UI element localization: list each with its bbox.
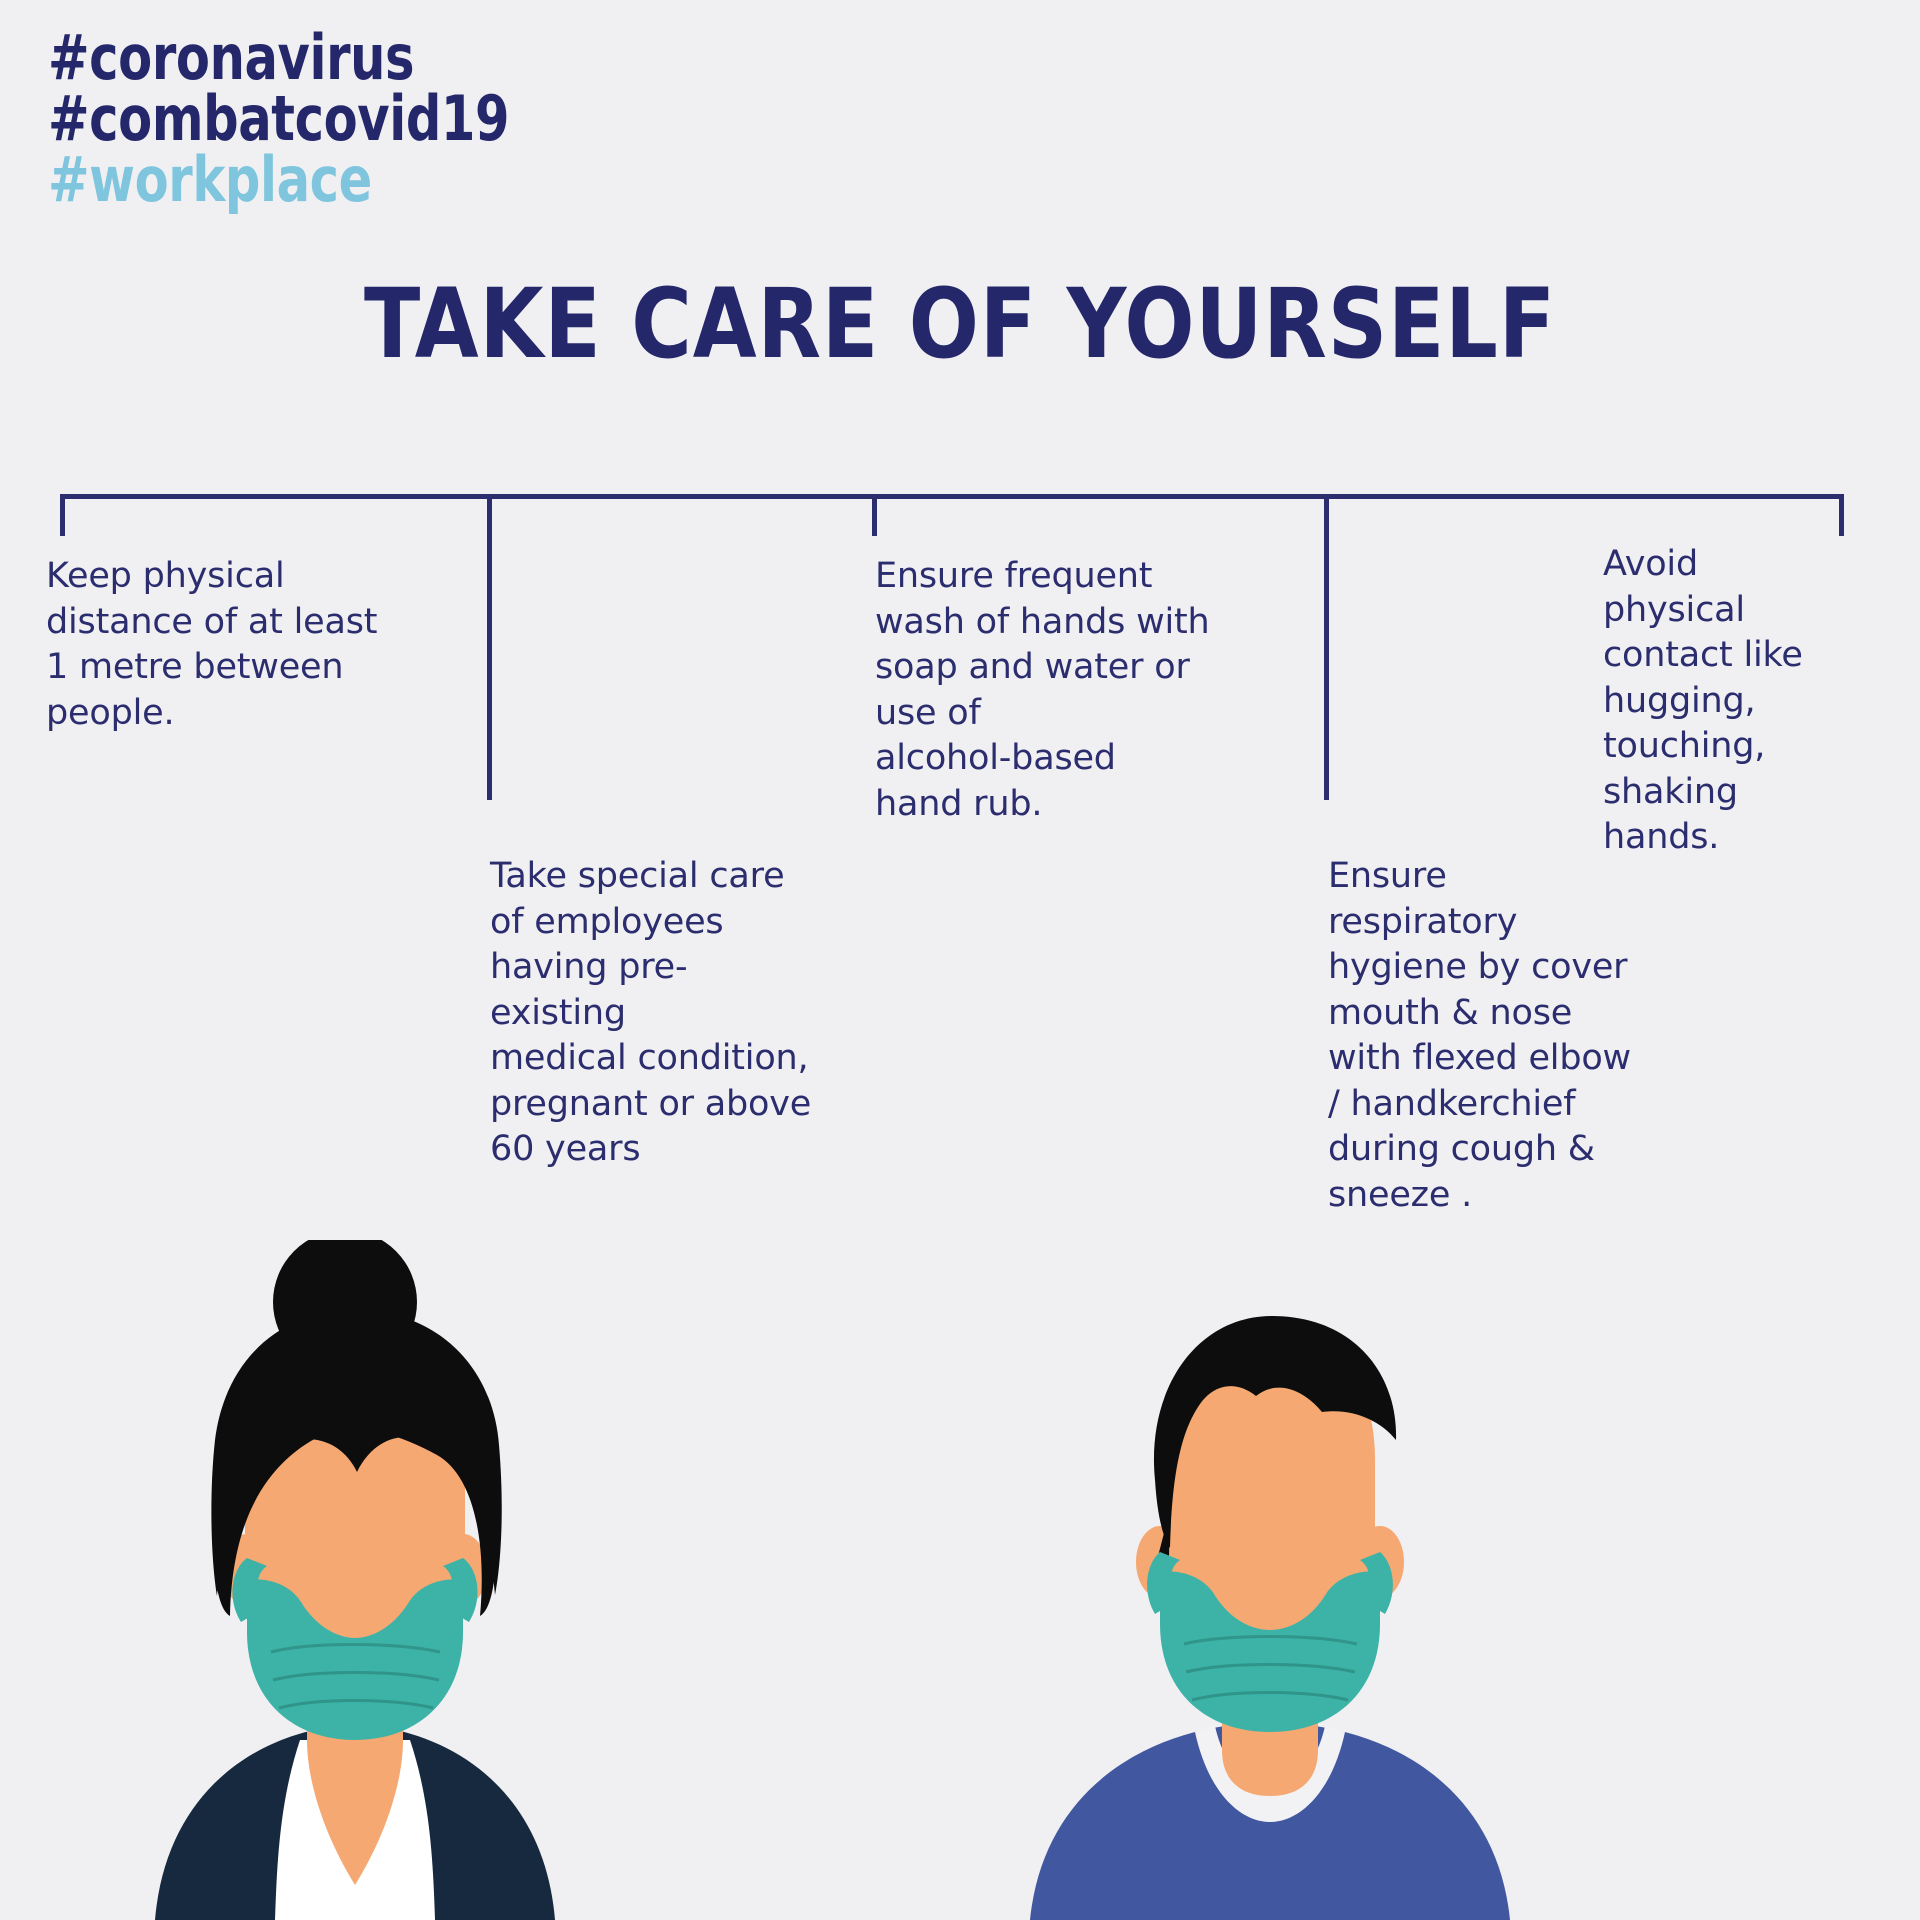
illustration-woman: [95, 1240, 615, 1920]
hashtag-group: #coronavirus #combatcovid19 #workplace: [48, 28, 624, 210]
bracket-horizontal-rail: [60, 494, 1844, 499]
tip-avoid-contact: Avoid physical contact like hugging, tou…: [1603, 542, 1863, 861]
tip-hand-hygiene: Ensure frequent wash of hands with soap …: [875, 554, 1245, 827]
bracket-dropper-4: [1324, 494, 1329, 800]
tip-respiratory-hygiene: Ensure respiratory hygiene by cover mout…: [1328, 854, 1658, 1218]
infographic-poster: #coronavirus #combatcovid19 #workplace T…: [0, 0, 1920, 1920]
bracket-dropper-5: [1839, 494, 1844, 536]
hashtag-coronavirus: #coronavirus: [48, 28, 509, 89]
hashtag-combatcovid19: #combatcovid19: [48, 89, 509, 150]
page-title-text: TAKE CARE OF YOURSELF: [364, 268, 1556, 380]
page-title: TAKE CARE OF YOURSELF: [0, 268, 1920, 380]
hashtag-workplace: #workplace: [48, 150, 509, 211]
bracket-dropper-3: [872, 494, 877, 536]
illustration-man: [1000, 1280, 1540, 1920]
bracket-dropper-1: [60, 494, 65, 536]
tip-special-care-employees: Take special care of employees having pr…: [490, 854, 820, 1173]
bracket-dropper-2: [487, 494, 492, 800]
tip-physical-distance: Keep physical distance of at least 1 met…: [46, 554, 416, 736]
